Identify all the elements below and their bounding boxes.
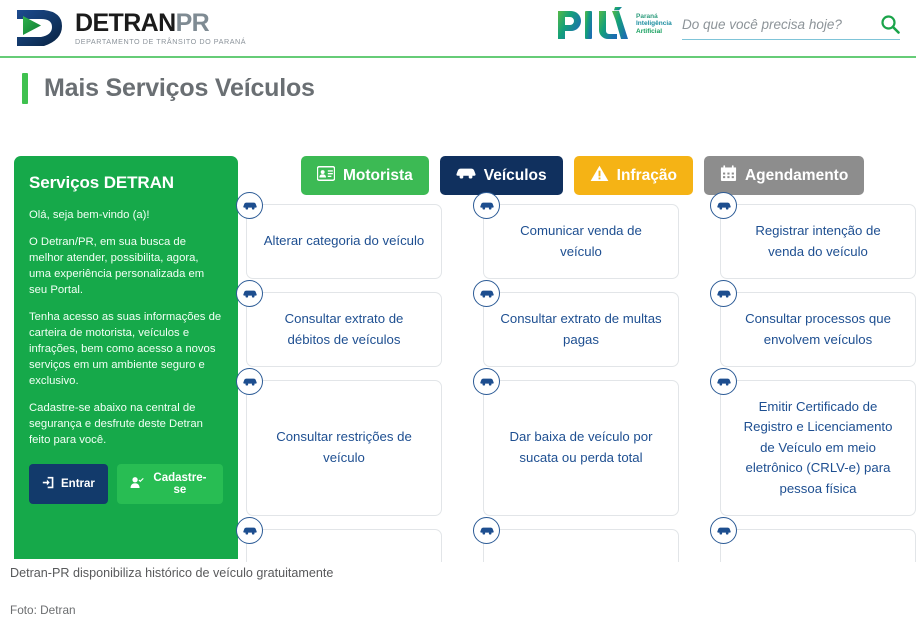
brand-name-suffix: PR <box>176 9 210 37</box>
car-badge-icon <box>710 280 737 307</box>
car-badge-icon <box>473 280 500 307</box>
car-badge-icon <box>473 517 500 544</box>
sidebar-paragraph-3: Tenha acesso as suas informações de cart… <box>29 309 223 389</box>
service-cards-grid: Alterar categoria do veículo Comunicar v… <box>246 204 916 617</box>
service-card-label: Consultar extrato de multas pagas <box>500 309 662 350</box>
car-badge-icon <box>236 368 263 395</box>
car-badge-icon <box>473 192 500 219</box>
pia-subtitle-line3: Artificial <box>636 28 672 35</box>
service-card-label: Registrar intenção de venda do veículo <box>737 221 899 262</box>
login-icon <box>42 476 55 492</box>
car-badge-icon <box>710 368 737 395</box>
page-title: Mais Serviços Veículos <box>44 74 315 103</box>
card-row: Consultar restrições de veículo Dar baix… <box>246 380 916 516</box>
service-card[interactable]: Dar baixa de veículo por sucata ou perda… <box>483 380 679 516</box>
service-card[interactable]: Consultar processos que envolvem veículo… <box>720 292 916 367</box>
service-card[interactable]: Registrar intenção de venda do veículo <box>720 204 916 279</box>
detran-wordmark: DETRANPR DEPARTAMENTO DE TRÂNSITO DO PAR… <box>75 11 246 45</box>
service-card[interactable]: Consultar restrições de veículo <box>246 380 442 516</box>
sidebar-paragraph-4: Cadastre-se abaixo na central de seguran… <box>29 400 223 448</box>
search-icon[interactable] <box>880 14 900 34</box>
pia-subtitle-line1: Paraná <box>636 13 672 20</box>
main-content: Serviços DETRAN Olá, seja bem-vindo (a)!… <box>0 152 916 562</box>
service-card-label: Consultar restrições de veículo <box>263 427 425 468</box>
tab-veiculos[interactable]: Veículos <box>440 156 563 195</box>
service-card-label: Emitir Certificado de Registro e Licenci… <box>737 397 899 500</box>
page-title-row: Mais Serviços Veículos <box>0 58 916 118</box>
tab-motorista-label: Motorista <box>343 167 413 185</box>
car-badge-icon <box>236 280 263 307</box>
car-badge-icon <box>710 192 737 219</box>
service-card[interactable]: Consultar extrato de débitos de veículos <box>246 292 442 367</box>
tab-motorista[interactable]: Motorista <box>301 156 429 195</box>
card-row: Alterar categoria do veículo Comunicar v… <box>246 204 916 279</box>
brand-tagline: DEPARTAMENTO DE TRÂNSITO DO PARANÁ <box>75 38 246 45</box>
card-row: Consultar extrato de débitos de veículos… <box>246 292 916 367</box>
photo-credit: Foto: Detran <box>10 603 76 617</box>
sidebar-paragraph-2: O Detran/PR, em sua busca de melhor aten… <box>29 234 223 298</box>
user-add-icon <box>130 476 144 492</box>
warning-triangle-icon <box>590 165 609 187</box>
service-card-label: Alterar categoria do veículo <box>264 231 425 252</box>
sidebar-heading: Serviços DETRAN <box>29 173 223 193</box>
detran-arrow-logo-icon <box>14 6 66 50</box>
pia-logo[interactable]: Paraná Inteligência Artificial <box>556 7 672 41</box>
service-card[interactable]: Emitir Certificado de Registro e Licenci… <box>720 380 916 516</box>
car-icon <box>456 166 476 186</box>
search-bar[interactable] <box>682 14 900 40</box>
car-badge-icon <box>473 368 500 395</box>
service-card[interactable]: Comunicar venda de veículo <box>483 204 679 279</box>
tab-agendamento[interactable]: Agendamento <box>704 156 864 195</box>
caption-area: Detran-PR disponibiliza histórico de veí… <box>0 562 916 624</box>
pia-subtitle: Paraná Inteligência Artificial <box>636 13 672 34</box>
title-accent-bar <box>22 73 28 104</box>
car-badge-icon <box>710 517 737 544</box>
search-input[interactable] <box>682 17 876 32</box>
service-card[interactable]: Alterar categoria do veículo <box>246 204 442 279</box>
service-card[interactable]: Consultar extrato de multas pagas <box>483 292 679 367</box>
tab-agendamento-label: Agendamento <box>745 167 848 185</box>
car-badge-icon <box>236 192 263 219</box>
tab-infracao[interactable]: Infração <box>574 156 693 195</box>
services-sidebar: Serviços DETRAN Olá, seja bem-vindo (a)!… <box>14 156 238 559</box>
login-button-label: Entrar <box>61 478 95 490</box>
brand-name-main: DETRAN <box>75 9 176 37</box>
sidebar-buttons: Entrar Cadastre-se <box>29 464 223 504</box>
register-button-label: Cadastre-se <box>150 472 210 496</box>
pia-logo-icon <box>556 7 630 41</box>
detran-logo[interactable]: DETRANPR DEPARTAMENTO DE TRÂNSITO DO PAR… <box>14 6 246 50</box>
tab-infracao-label: Infração <box>617 167 677 185</box>
sidebar-paragraph-1: Olá, seja bem-vindo (a)! <box>29 207 223 223</box>
site-header: DETRANPR DEPARTAMENTO DE TRÂNSITO DO PAR… <box>0 0 916 58</box>
login-button[interactable]: Entrar <box>29 464 108 504</box>
service-card-label: Dar baixa de veículo por sucata ou perda… <box>500 427 662 468</box>
id-card-icon <box>317 166 335 186</box>
pia-subtitle-line2: Inteligência <box>636 20 672 27</box>
service-card-label: Consultar extrato de débitos de veículos <box>263 309 425 350</box>
image-caption: Detran-PR disponibiliza histórico de veí… <box>10 566 333 580</box>
register-button[interactable]: Cadastre-se <box>117 464 223 504</box>
tab-veiculos-label: Veículos <box>484 167 547 185</box>
category-tabs: Motorista Veículos Infração <box>301 156 864 195</box>
service-card-label: Comunicar venda de veículo <box>500 221 662 262</box>
service-card-label: Consultar processos que envolvem veículo… <box>737 309 899 350</box>
calendar-icon <box>720 165 737 187</box>
car-badge-icon <box>236 517 263 544</box>
